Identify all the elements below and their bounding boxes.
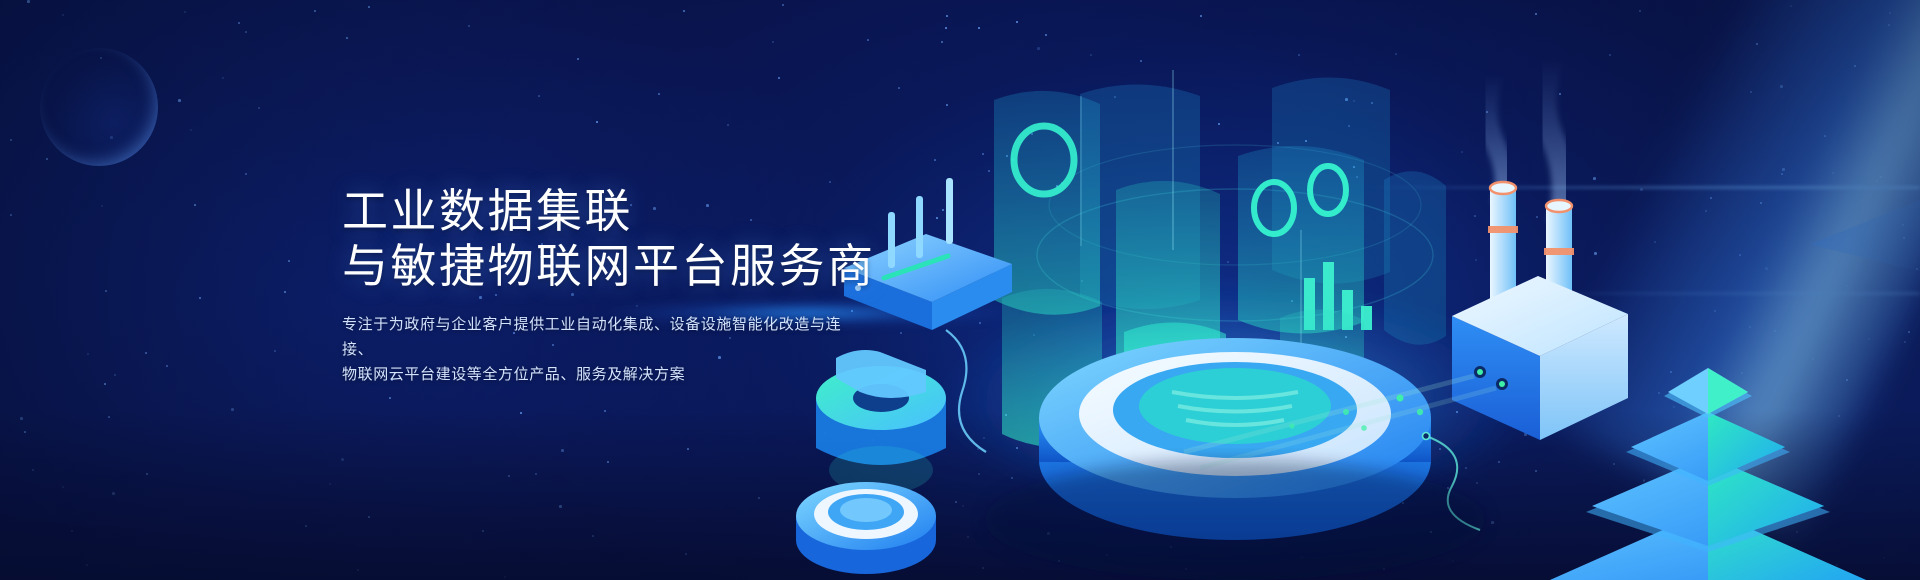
pyramid-tier-2 [1626, 412, 1790, 486]
hologram-panel-outer-right [1384, 171, 1446, 344]
headline-line-2: 与敏捷物联网平台服务商 [342, 239, 962, 294]
factory-smokestacks [1452, 58, 1628, 440]
hero-copy-block: 工业数据集联 与敏捷物联网平台服务商 专注于为政府与企业客户提供工业自动化集成、… [342, 184, 962, 387]
subtitle-line-2: 物联网云平台建设等全方位产品、服务及解决方案 [342, 362, 872, 387]
hero-banner: 工业数据集联 与敏捷物联网平台服务商 专注于为政府与企业客户提供工业自动化集成、… [0, 0, 1920, 580]
pyramid-tier-1 [1664, 368, 1752, 418]
wire-endpoint [1423, 433, 1430, 440]
stack-band [1488, 226, 1518, 233]
small-disc-base [796, 482, 936, 574]
stack-band [1544, 248, 1574, 255]
subtitle-line-1: 专注于为政府与企业客户提供工业自动化集成、设备设施智能化改造与连接、 [342, 312, 872, 362]
headline-line-1: 工业数据集联 [342, 184, 962, 239]
